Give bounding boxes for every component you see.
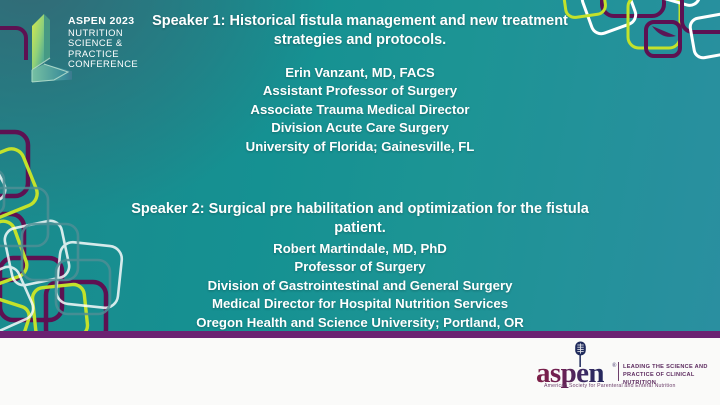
speaker-1-title: Speaker 1: Historical fistula management… bbox=[120, 12, 600, 50]
presentation-slide: ASPEN 2023 NUTRITION SCIENCE & PRACTICE … bbox=[0, 0, 720, 405]
registered-trademark-symbol: ® bbox=[612, 363, 617, 369]
speaker-2-affiliation: Oregon Health and Science University; Po… bbox=[120, 314, 600, 331]
purple-divider-bar bbox=[0, 331, 720, 338]
speaker-2-role-2: Medical Director for Hospital Nutrition … bbox=[120, 295, 600, 313]
aspen-organization-logo: aspen ® Leading the science and practice… bbox=[534, 341, 710, 399]
speaker-2-name: Robert Martindale, MD, PhD bbox=[120, 240, 600, 258]
speaker-1-role-1: Assistant Professor of Surgery bbox=[120, 82, 600, 100]
speaker-2-division: Division of Gastrointestinal and General… bbox=[120, 277, 600, 295]
slide-content: Speaker 1: Historical fistula management… bbox=[120, 10, 600, 331]
conference-logo-mark-icon bbox=[24, 12, 72, 88]
speaker-1-role-2: Associate Trauma Medical Director bbox=[120, 101, 600, 119]
slide-background: ASPEN 2023 NUTRITION SCIENCE & PRACTICE … bbox=[0, 0, 720, 331]
speaker-2-title: Speaker 2: Surgical pre habilitation and… bbox=[120, 200, 600, 238]
speaker-2-details: Robert Martindale, MD, PhD Professor of … bbox=[120, 240, 600, 331]
speaker-1-block: Speaker 1: Historical fistula management… bbox=[120, 12, 600, 156]
aspen-subtitle: American Society for Parenteral and Ente… bbox=[544, 383, 710, 389]
speaker-1-division: Division Acute Care Surgery bbox=[120, 119, 600, 137]
speaker-1-name: Erin Vanzant, MD, FACS bbox=[120, 64, 600, 82]
speaker-2-block: Speaker 2: Surgical pre habilitation and… bbox=[120, 200, 600, 331]
speaker-1-details: Erin Vanzant, MD, FACS Assistant Profess… bbox=[120, 64, 600, 156]
logo-divider bbox=[618, 362, 619, 381]
speaker-1-affiliation: University of Florida; Gainesville, FL bbox=[120, 138, 600, 156]
speaker-2-role-1: Professor of Surgery bbox=[120, 258, 600, 276]
